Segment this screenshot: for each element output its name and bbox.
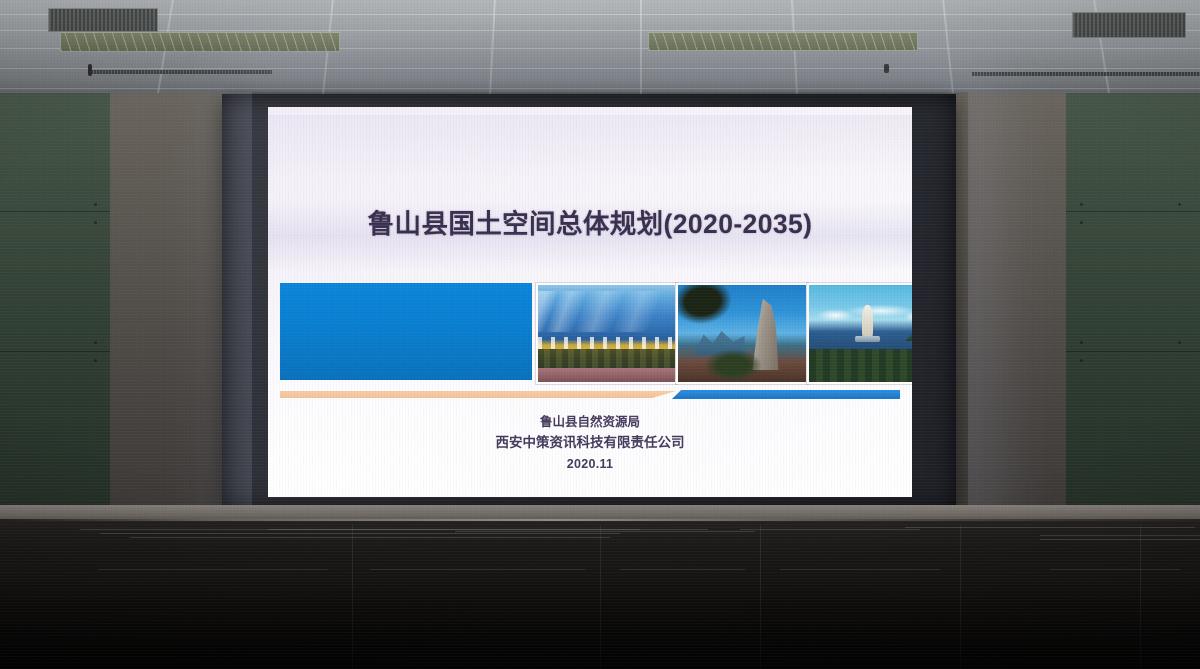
photo-rock-peak: [676, 283, 808, 384]
footer-date: 2020.11: [268, 454, 912, 474]
slide-image-band: [280, 283, 900, 380]
photo-buddha-statue: [807, 283, 912, 384]
slide-footer: 鲁山县自然资源局 西安中策资讯科技有限责任公司 2020.11: [268, 412, 912, 474]
presentation-slide[interactable]: 鲁山县国土空间总体规划(2020-2035): [268, 107, 912, 497]
wall-panel-gray-left: [110, 93, 226, 525]
wall-panel-green-right: [1066, 93, 1200, 525]
ceiling: [0, 0, 1200, 100]
divider-bar-blue: [672, 390, 900, 399]
footer-company: 西安中策资讯科技有限责任公司: [268, 432, 912, 454]
divider-bar-tan: [280, 391, 676, 398]
slide-title: 鲁山县国土空间总体规划(2020-2035): [268, 202, 912, 241]
room-photo-scene: 鲁山县国土空间总体规划(2020-2035): [0, 0, 1200, 669]
wall-panel-green-left: [0, 93, 112, 525]
wall-panel-gray-right: [948, 93, 1070, 525]
wood-wainscot: [0, 519, 1200, 669]
slide-divider: [280, 390, 900, 399]
photo-mountain-village: [536, 283, 677, 384]
footer-organization: 鲁山县自然资源局: [268, 412, 912, 432]
blue-color-block: [280, 283, 532, 380]
